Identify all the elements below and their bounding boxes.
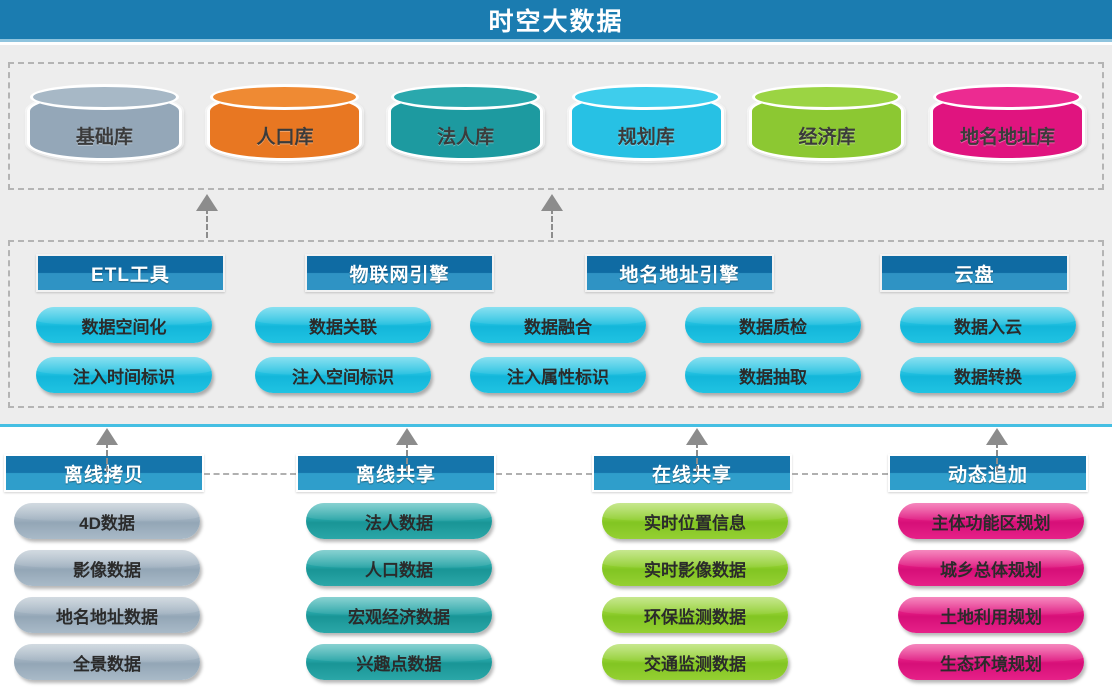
engine-capability-label: 数据融合 — [524, 313, 592, 338]
source-item-label: 人口数据 — [365, 556, 433, 581]
database-label: 法人库 — [388, 122, 543, 168]
connector-dashed-line — [204, 473, 296, 475]
source-item-pill[interactable]: 土地利用规划 — [898, 597, 1084, 633]
page-title: 时空大数据 — [488, 2, 623, 38]
database-row: 基础库人口库法人库规划库经济库地名地址库 — [0, 62, 1112, 190]
diagram-root: 时空大数据 基础库人口库法人库规划库经济库地名地址库 ETL工具物联网引擎地名地… — [0, 0, 1112, 692]
database-cylinder[interactable]: 基础库 — [27, 84, 182, 168]
engine-capability-pill[interactable]: 注入属性标识 — [470, 357, 646, 393]
source-item-pill[interactable]: 生态环境规划 — [898, 644, 1084, 680]
engine-capability-label: 数据入云 — [954, 313, 1022, 338]
source-item-label: 土地利用规划 — [940, 603, 1042, 628]
source-item-pill[interactable]: 实时影像数据 — [602, 550, 788, 586]
cylinder-top — [752, 84, 901, 110]
source-item-pill[interactable]: 人口数据 — [306, 550, 492, 586]
source-item-pill[interactable]: 影像数据 — [14, 550, 200, 586]
engine-capability-label: 数据质检 — [739, 313, 807, 338]
engine-capability-label: 数据空间化 — [82, 313, 167, 338]
engine-capability-pill[interactable]: 数据关联 — [255, 307, 431, 343]
source-item-pill[interactable]: 环保监测数据 — [602, 597, 788, 633]
cylinder-top — [210, 84, 359, 110]
source-item-pill[interactable]: 交通监测数据 — [602, 644, 788, 680]
flow-arrow-icon — [396, 428, 418, 472]
cylinder-top — [933, 84, 1082, 110]
database-cylinder[interactable]: 人口库 — [207, 84, 362, 168]
source-item-label: 实时位置信息 — [644, 509, 746, 534]
cylinder-top — [391, 84, 540, 110]
page-header: 时空大数据 — [0, 0, 1112, 42]
source-item-pill[interactable]: 城乡总体规划 — [898, 550, 1084, 586]
engine-header-label: ETL工具 — [91, 260, 170, 287]
engine-capability-pill[interactable]: 数据入云 — [900, 307, 1076, 343]
connector-dashed-line — [792, 473, 888, 475]
source-item-pill[interactable]: 4D数据 — [14, 503, 200, 539]
database-label: 人口库 — [207, 122, 362, 168]
engine-capability-label: 数据关联 — [309, 313, 377, 338]
database-label: 经济库 — [749, 122, 904, 168]
source-item-label: 主体功能区规划 — [932, 509, 1051, 534]
database-label: 基础库 — [27, 122, 182, 168]
database-label: 地名地址库 — [930, 122, 1085, 168]
engine-header[interactable]: 地名地址引擎 — [585, 254, 774, 292]
source-item-label: 4D数据 — [79, 509, 135, 534]
source-item-label: 生态环境规划 — [940, 650, 1042, 675]
flow-arrow-icon — [541, 194, 563, 238]
engine-capability-pill[interactable]: 注入时间标识 — [36, 357, 212, 393]
database-label: 规划库 — [569, 122, 724, 168]
source-item-label: 交通监测数据 — [644, 650, 746, 675]
source-item-pill[interactable]: 实时位置信息 — [602, 503, 788, 539]
database-cylinder[interactable]: 法人库 — [388, 84, 543, 168]
flow-arrow-icon — [196, 194, 218, 238]
source-item-label: 宏观经济数据 — [348, 603, 450, 628]
source-item-label: 兴趣点数据 — [357, 650, 442, 675]
database-cylinder[interactable]: 地名地址库 — [930, 84, 1085, 168]
flow-arrow-icon — [96, 428, 118, 472]
source-item-label: 法人数据 — [365, 509, 433, 534]
engine-capability-label: 注入属性标识 — [507, 363, 609, 388]
connector-dashed-line — [496, 473, 592, 475]
cylinder-top — [30, 84, 179, 110]
engine-capability-pill[interactable]: 数据质检 — [685, 307, 861, 343]
source-item-label: 城乡总体规划 — [940, 556, 1042, 581]
source-item-label: 环保监测数据 — [644, 603, 746, 628]
database-cylinder[interactable]: 规划库 — [569, 84, 724, 168]
cylinder-top — [572, 84, 721, 110]
source-item-pill[interactable]: 兴趣点数据 — [306, 644, 492, 680]
engine-header-label: 地名地址引擎 — [619, 260, 739, 287]
engine-header[interactable]: ETL工具 — [36, 254, 225, 292]
source-item-pill[interactable]: 地名地址数据 — [14, 597, 200, 633]
engine-header-label: 云盘 — [954, 260, 994, 287]
flow-arrow-icon — [686, 428, 708, 472]
source-item-label: 影像数据 — [73, 556, 141, 581]
source-item-label: 实时影像数据 — [644, 556, 746, 581]
source-item-pill[interactable]: 法人数据 — [306, 503, 492, 539]
source-item-pill[interactable]: 全景数据 — [14, 644, 200, 680]
flow-arrow-icon — [986, 428, 1008, 472]
source-item-pill[interactable]: 宏观经济数据 — [306, 597, 492, 633]
engine-capability-pill[interactable]: 数据融合 — [470, 307, 646, 343]
source-item-label: 地名地址数据 — [56, 603, 158, 628]
engine-header[interactable]: 云盘 — [880, 254, 1069, 292]
engine-capability-pill[interactable]: 数据抽取 — [685, 357, 861, 393]
engine-header[interactable]: 物联网引擎 — [305, 254, 494, 292]
source-item-label: 全景数据 — [73, 650, 141, 675]
engine-header-label: 物联网引擎 — [349, 260, 449, 287]
source-item-pill[interactable]: 主体功能区规划 — [898, 503, 1084, 539]
engine-capability-label: 数据抽取 — [739, 363, 807, 388]
engine-capability-label: 注入空间标识 — [292, 363, 394, 388]
source-section: 离线拷贝4D数据影像数据地名地址数据全景数据离线共享法人数据人口数据宏观经济数据… — [0, 424, 1112, 692]
engine-capability-pill[interactable]: 数据转换 — [900, 357, 1076, 393]
engine-capability-pill[interactable]: 注入空间标识 — [255, 357, 431, 393]
engine-capability-label: 数据转换 — [954, 363, 1022, 388]
engine-capability-label: 注入时间标识 — [73, 363, 175, 388]
engine-capability-pill[interactable]: 数据空间化 — [36, 307, 212, 343]
database-cylinder[interactable]: 经济库 — [749, 84, 904, 168]
